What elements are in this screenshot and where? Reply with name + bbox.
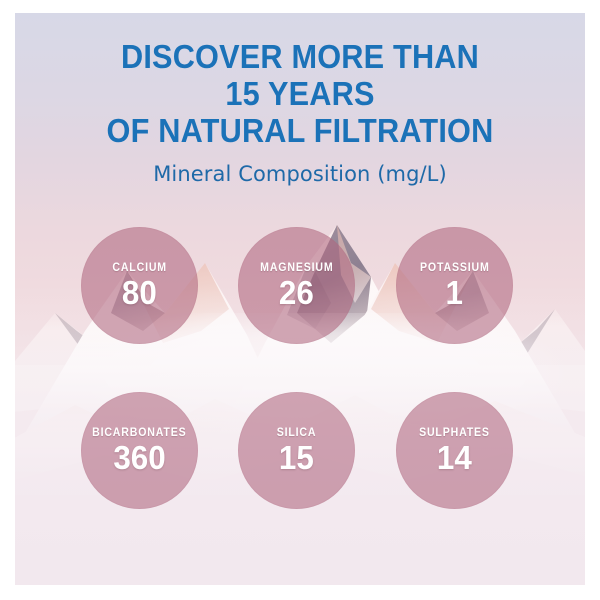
mineral-label: MAGNESIUM [260, 262, 333, 274]
mineral-badge-calcium: CALCIUM 80 [81, 227, 198, 344]
mineral-badge-bicarbonates: BICARBONATES 360 [81, 392, 198, 509]
mineral-bubble-grid: CALCIUM 80 MAGNESIUM 26 POTASSIUM 1 BICA… [0, 0, 600, 600]
mineral-value: 360 [113, 441, 165, 475]
mineral-composition-infographic: DISCOVER MORE THAN 15 YEARS OF NATURAL F… [0, 0, 600, 600]
mineral-label: SULPHATES [419, 427, 490, 439]
mineral-badge-magnesium: MAGNESIUM 26 [238, 227, 355, 344]
mineral-value: 26 [279, 276, 314, 310]
mineral-label: SILICA [277, 427, 317, 439]
mineral-badge-silica: SILICA 15 [238, 392, 355, 509]
mineral-value: 1 [446, 276, 463, 310]
mineral-badge-potassium: POTASSIUM 1 [396, 227, 513, 344]
mineral-label: CALCIUM [112, 262, 167, 274]
mineral-value: 14 [437, 441, 472, 475]
mineral-value: 15 [279, 441, 314, 475]
mineral-badge-sulphates: SULPHATES 14 [396, 392, 513, 509]
mineral-label: BICARBONATES [92, 427, 186, 439]
mineral-value: 80 [122, 276, 157, 310]
mineral-label: POTASSIUM [420, 262, 490, 274]
